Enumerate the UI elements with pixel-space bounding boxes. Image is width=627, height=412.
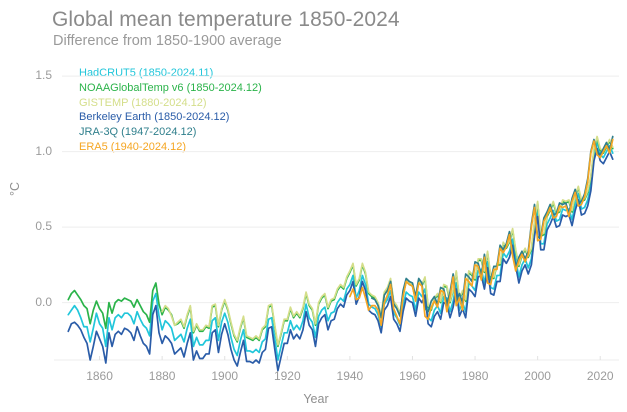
plot-area xyxy=(0,0,627,412)
ytick-label-1.0: 1.0 xyxy=(18,144,52,158)
x-tick-marks xyxy=(100,356,601,360)
xtick-label-2000: 2000 xyxy=(515,369,561,383)
xtick-label-1980: 1980 xyxy=(452,369,498,383)
gridlines xyxy=(62,76,619,303)
ytick-label-0.0: 0.0 xyxy=(18,295,52,309)
ytick-label-0.5: 0.5 xyxy=(18,219,52,233)
xtick-label-1960: 1960 xyxy=(389,369,435,383)
series-line-era5 xyxy=(350,140,613,326)
xtick-label-1920: 1920 xyxy=(264,369,310,383)
ytick-label-1.5: 1.5 xyxy=(18,68,52,82)
xtick-label-1880: 1880 xyxy=(139,369,185,383)
xtick-label-2020: 2020 xyxy=(577,369,623,383)
xtick-label-1940: 1940 xyxy=(327,369,373,383)
series-line-noaaglobaltemp-v6 xyxy=(68,138,612,346)
x-axis-title: Year xyxy=(303,392,328,406)
xtick-label-1860: 1860 xyxy=(77,369,123,383)
y-axis-title: °C xyxy=(8,182,22,196)
data-series-group xyxy=(68,137,612,371)
chart-figure: Global mean temperature 1850-2024 Differ… xyxy=(0,0,627,412)
xtick-label-1900: 1900 xyxy=(202,369,248,383)
